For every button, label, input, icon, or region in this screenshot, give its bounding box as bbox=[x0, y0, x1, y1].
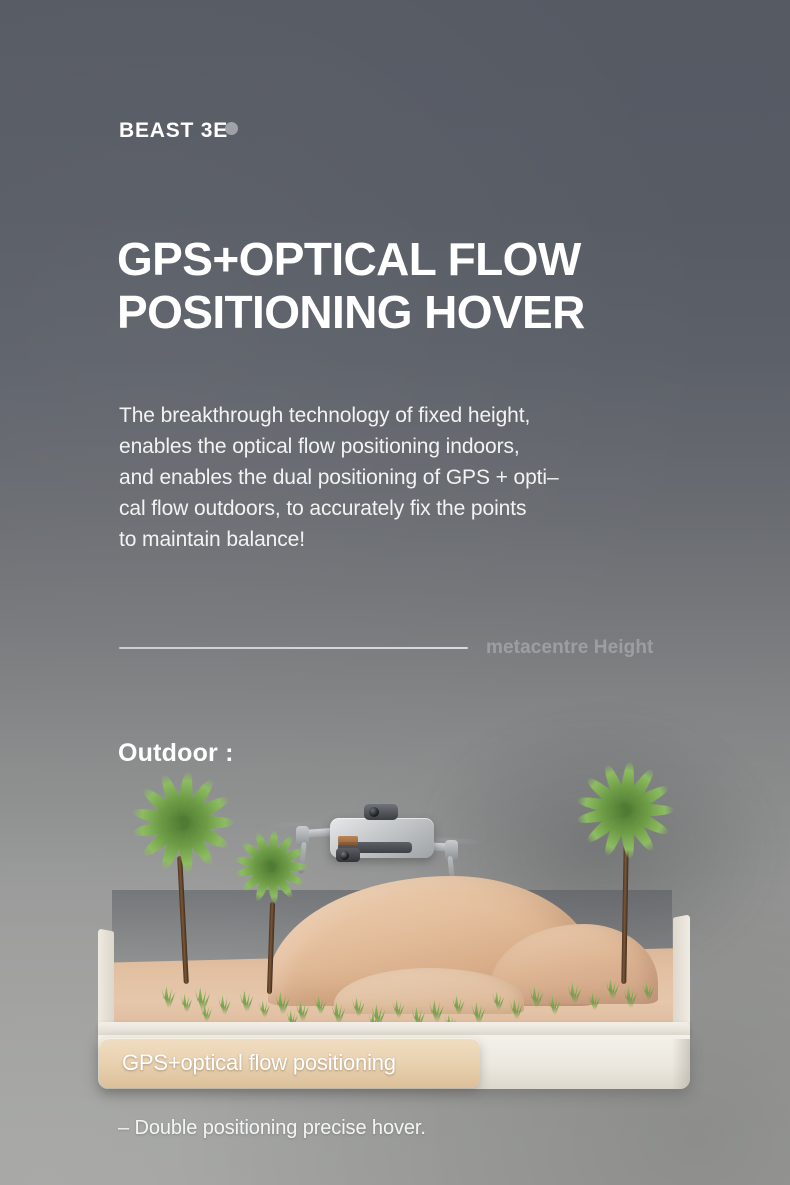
palm-tree-icon bbox=[570, 804, 680, 984]
palm-tree-icon bbox=[216, 862, 326, 994]
caption-chip-label: GPS+optical flow positioning bbox=[122, 1050, 396, 1076]
palm-trunk bbox=[267, 902, 275, 994]
grass-tuft bbox=[391, 1000, 405, 1019]
page-title: GPS+OPTICAL FLOW POSITIONING HOVER bbox=[117, 233, 737, 340]
grass-tuft bbox=[160, 986, 176, 1008]
grass-tuft bbox=[193, 987, 211, 1011]
drone-battery bbox=[338, 836, 358, 845]
grass-tuft bbox=[587, 992, 601, 1011]
footer-caption: – Double positioning precise hover. bbox=[118, 1117, 426, 1140]
caption-chip: GPS+optical flow positioning bbox=[100, 1038, 480, 1088]
grass-tuft bbox=[313, 996, 327, 1015]
page-title-line-1: GPS+OPTICAL FLOW bbox=[117, 233, 581, 285]
brand-name: BEAST 3E bbox=[119, 120, 228, 141]
grass-tuft bbox=[217, 995, 231, 1015]
drone-top-sensor-icon bbox=[364, 804, 398, 820]
grass-tuft bbox=[641, 982, 655, 1001]
grass-tuft bbox=[428, 999, 445, 1022]
grass-tuft bbox=[547, 995, 561, 1015]
page-title-line-2: POSITIONING HOVER bbox=[117, 286, 737, 339]
palm-trunk bbox=[177, 856, 189, 984]
grass-tuft bbox=[470, 1002, 486, 1024]
palm-trunk bbox=[621, 844, 628, 984]
grass-tuft bbox=[451, 995, 465, 1015]
product-feature-page: BEAST 3E GPS+OPTICAL FLOW POSITIONING HO… bbox=[0, 0, 790, 1185]
grass-tuft bbox=[491, 992, 505, 1011]
grass-tuft bbox=[179, 994, 193, 1013]
tray-wall-left bbox=[98, 928, 114, 1031]
grass-tuft bbox=[622, 986, 638, 1008]
grass-tuft bbox=[258, 1000, 271, 1018]
grass-tuft bbox=[274, 991, 291, 1014]
grass-tuft bbox=[528, 986, 544, 1008]
divider-line bbox=[119, 647, 468, 649]
registered-trademark-icon bbox=[225, 122, 238, 135]
grass-tuft bbox=[330, 1002, 346, 1024]
drone-gimbal-camera-icon bbox=[336, 848, 360, 862]
brand-logo: BEAST 3E bbox=[119, 120, 242, 141]
grass-tuft bbox=[351, 997, 365, 1017]
description-block: The breakthrough technology of fixed hei… bbox=[119, 400, 699, 555]
description-text: The breakthrough technology of fixed hei… bbox=[119, 400, 699, 555]
grass-tuft bbox=[508, 999, 523, 1020]
divider-row: metacentre Height bbox=[119, 636, 679, 660]
grass-tuft bbox=[566, 982, 582, 1004]
metacentre-height-watermark: metacentre Height bbox=[486, 637, 653, 659]
